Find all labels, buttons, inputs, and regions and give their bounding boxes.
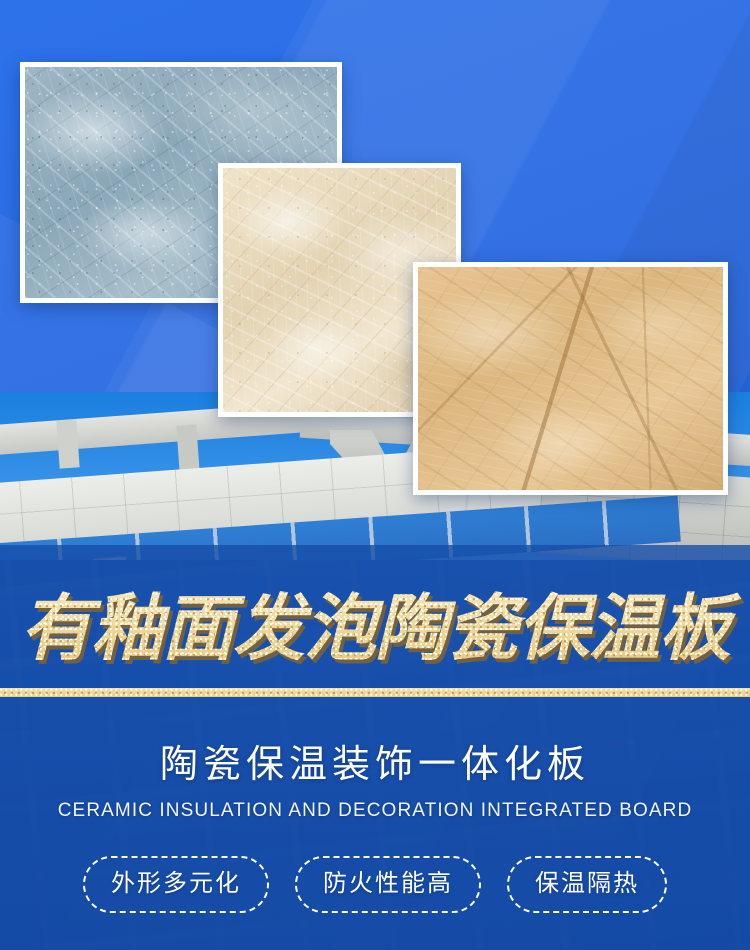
building-pillar-a — [56, 419, 79, 468]
feature-badge-list: 外形多元化 防火性能高 保温隔热 — [0, 856, 750, 913]
feature-badge-thermal-insulation[interactable]: 保温隔热 — [507, 856, 667, 913]
tile-sample-tan-marble[interactable] — [413, 262, 728, 495]
subtitle-english: CERAMIC INSULATION AND DECORATION INTEGR… — [0, 799, 750, 823]
feature-badge-fire-resistance[interactable]: 防火性能高 — [295, 856, 481, 913]
tile-vein-overlay — [418, 267, 723, 490]
building-pillar-b — [176, 424, 199, 473]
headline: 有釉面发泡陶瓷保温板 — [0, 588, 750, 670]
subtitle-chinese: 陶瓷保温装饰一体化板 — [0, 742, 750, 788]
feature-badge-shape-diversity[interactable]: 外形多元化 — [83, 856, 269, 913]
product-banner: 有釉面发泡陶瓷保温板 陶瓷保温装饰一体化板 CERAMIC INSULATION… — [0, 0, 750, 950]
gold-divider — [0, 688, 750, 697]
